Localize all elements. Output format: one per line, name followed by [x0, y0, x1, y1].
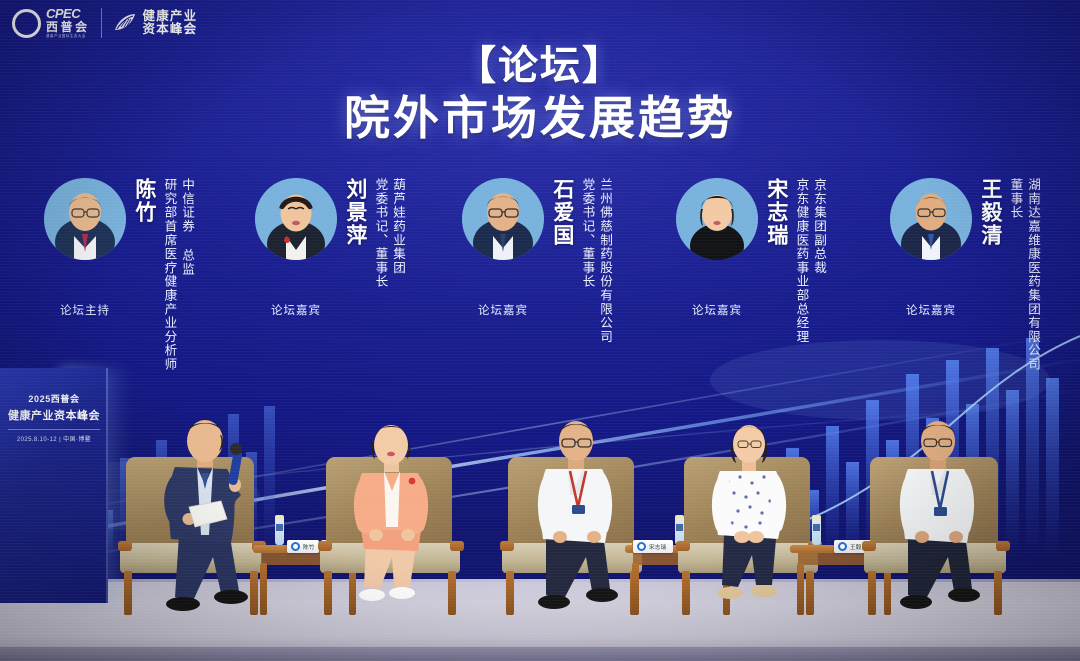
avatar [44, 178, 126, 260]
panelist-role: 论坛嘉宾 [255, 302, 337, 318]
panelist-affiliation: 葫芦娃药业集团 [390, 178, 405, 288]
panelist-card-row: 陈竹 中信证券 总监 研究部首席医疗健康产业分析师 论坛主持 [0, 178, 1080, 428]
nameplate-text: 宋志瑞 [649, 543, 666, 551]
forum-title-main: 院外市场发展趋势 [0, 91, 1080, 146]
panelist-role: 论坛嘉宾 [462, 302, 544, 318]
forum-title-bracketed: 【论坛】 [0, 44, 1080, 89]
logo-cpec-sub: 健康产业国际生态大会 [46, 35, 87, 38]
panelist-affiliation: 兰州佛慈制药股份有限公司 [597, 178, 612, 344]
logo-summit-line1: 健康产业 [143, 10, 198, 24]
panelist-position: 党委书记、董事长 [580, 178, 595, 344]
cpec-dot-icon [291, 542, 300, 551]
water-bottle [812, 515, 821, 545]
leaf-icon [113, 12, 137, 34]
logo-cpec-en: CPEC [46, 7, 90, 20]
panelist-position: 京东健康医药事业部总经理 [794, 178, 809, 344]
panelist-card-wang-yiqing: 王毅清 湖南达嘉维康医药集团有限公司 董事长 论坛嘉宾 [890, 178, 1040, 371]
panelist-role: 论坛主持 [44, 302, 126, 318]
logo-summit-line2: 资本峰会 [143, 23, 198, 37]
nameplate-text: 陈竹 [303, 543, 315, 551]
conference-stage-photo: CPEC 西普会 健康产业国际生态大会 健康产业 资本峰会 【论坛】 院外市场发… [0, 0, 1080, 661]
panelist-affiliation: 湖南达嘉维康医药集团有限公司 [1025, 178, 1040, 371]
panelist-card-chen-zhu: 陈竹 中信证券 总监 研究部首席医疗健康产业分析师 论坛主持 [44, 178, 194, 371]
panelist-name: 王毅清 [979, 178, 1001, 247]
nameplate: 宋志瑞 [633, 540, 673, 553]
cpec-dot-icon [637, 542, 646, 551]
panelist-card-liu-jingping: 刘景萍 葫芦娃药业集团 党委书记、董事长 论坛嘉宾 [255, 178, 405, 288]
logo-capital-summit: 健康产业 资本峰会 [113, 10, 198, 37]
header-logo-bar: CPEC 西普会 健康产业国际生态大会 健康产业 资本峰会 [0, 0, 300, 46]
panelist-card-song-zhirui: 宋志瑞 京东集团副总裁 京东健康医药事业部总经理 论坛嘉宾 [676, 178, 826, 344]
water-bottle [275, 515, 284, 545]
cpec-dot-icon [838, 542, 847, 551]
nameplate: 陈竹 [287, 540, 319, 553]
panelist-position: 党委书记、董事长 [373, 178, 388, 288]
panelist-affiliation: 中信证券 总监 [179, 178, 194, 371]
logo-divider [101, 8, 102, 38]
forum-title-block: 【论坛】 院外市场发展趋势 [0, 44, 1080, 146]
person-panelist-liu-jingping [330, 419, 456, 615]
ring-icon [12, 9, 41, 38]
avatar [255, 178, 337, 260]
avatar [676, 178, 758, 260]
stage-edge [0, 647, 1080, 661]
panelist-position: 董事长 [1008, 178, 1023, 371]
panelist-name: 石爱国 [551, 178, 573, 247]
avatar [890, 178, 972, 260]
panelist-affiliation: 京东集团副总裁 [811, 178, 826, 344]
logo-cpec-cn: 西普会 [46, 21, 90, 33]
panelist-role: 论坛嘉宾 [676, 302, 758, 318]
panelist-position: 研究部首席医疗健康产业分析师 [162, 178, 177, 371]
logo-cpec: CPEC 西普会 健康产业国际生态大会 [12, 7, 90, 39]
avatar [462, 178, 544, 260]
panelist-name: 宋志瑞 [765, 178, 787, 247]
person-panelist-wang-yiqing [872, 417, 1008, 615]
panelist-name: 陈竹 [133, 178, 155, 224]
panelist-card-shi-aiguo: 石爱国 兰州佛慈制药股份有限公司 党委书记、董事长 论坛嘉宾 [462, 178, 612, 344]
panelist-name: 刘景萍 [344, 178, 366, 247]
panelist-role: 论坛嘉宾 [890, 302, 972, 318]
